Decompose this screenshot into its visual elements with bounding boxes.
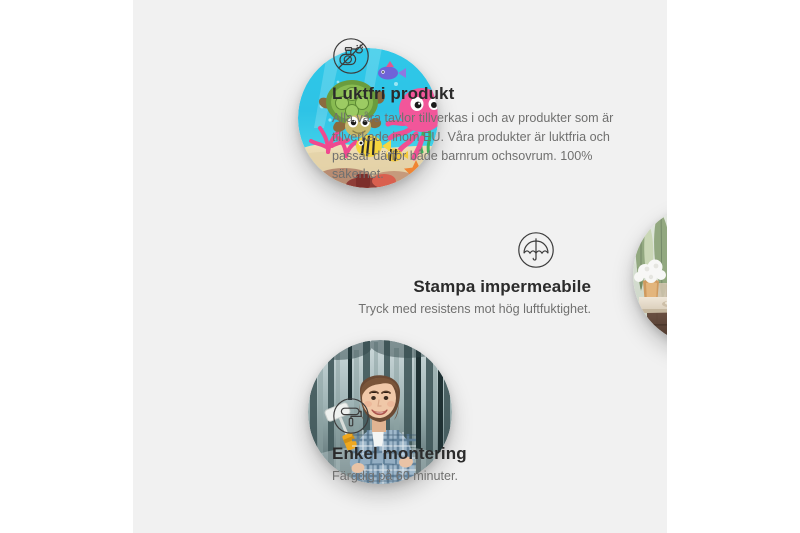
feature-assembly: Enkel montering Färgdig på 60 minuter.: [332, 397, 632, 486]
content-panel: Luktfri produkt Alla våra tavlor tillver…: [133, 0, 667, 533]
feature-odourless-text: Luktfri produkt Alla våra tavlor tillver…: [332, 37, 632, 184]
feature-assembly-body: Färgdig på 60 minuter.: [332, 467, 632, 486]
no-fragrance-icon: [332, 37, 370, 75]
feature-waterproof: Stampa impermeabile Tryck med resistens …: [221, 231, 591, 319]
feature-odourless-body: Alla våra tavlor tillverkas i och av pro…: [332, 109, 632, 184]
feature-odourless-title: Luktfri produkt: [332, 83, 632, 104]
feature-assembly-title: Enkel montering: [332, 443, 632, 464]
feature-waterproof-title: Stampa impermeabile: [221, 276, 591, 297]
screenshot-root: Luktfri produkt Alla våra tavlor tillver…: [0, 0, 800, 533]
bathroom-interior-photo: [633, 205, 667, 345]
feature-waterproof-body: Tryck med resistens mot hög luftfuktighe…: [221, 300, 591, 319]
umbrella-icon: [517, 231, 555, 269]
paint-roller-icon: [332, 397, 370, 435]
